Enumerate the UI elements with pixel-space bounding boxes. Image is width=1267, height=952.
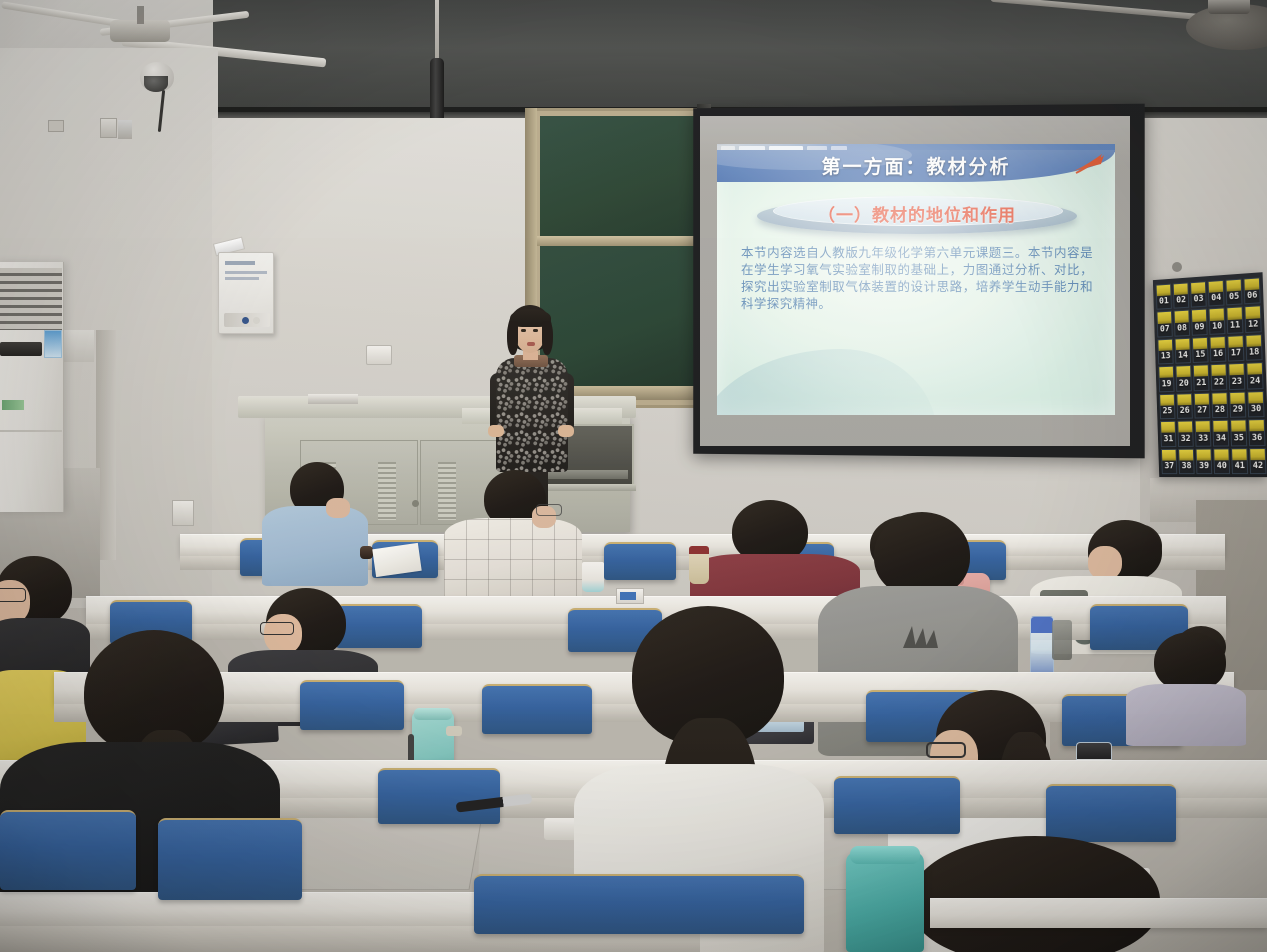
- lectern-lock-knob[interactable]: [412, 500, 419, 507]
- pocket-cell[interactable]: 22: [1210, 364, 1227, 391]
- pocket-row: 25 26 27 28 29 30: [1159, 391, 1264, 420]
- notebook-icon: [308, 394, 358, 404]
- pocket-cell[interactable]: 08: [1174, 310, 1190, 336]
- slide-body-text: 本节内容选自人教版九年级化学第六单元课题三。本节内容是在学生学习氧气实验室制取的…: [741, 244, 1093, 312]
- presenter-hand-left: [488, 425, 504, 437]
- ceiling-fixture-small: [48, 120, 64, 132]
- pocket-cell[interactable]: 33: [1195, 420, 1212, 446]
- student-torso: [444, 518, 582, 600]
- pocket-row: 07 08 09 10 11 12: [1157, 306, 1262, 338]
- pocket-cell[interactable]: 39: [1196, 448, 1213, 474]
- pocket-cell[interactable]: 17: [1227, 335, 1244, 362]
- phone-pocket-organizer[interactable]: 01 02 03 04 05 06 07 08 09 10 11 12 13 1…: [1153, 272, 1267, 477]
- ac-display-panel: [0, 342, 42, 356]
- pocket-cell[interactable]: 15: [1192, 337, 1209, 363]
- pocket-cell[interactable]: 42: [1249, 448, 1266, 474]
- microphone-icon: [428, 0, 450, 135]
- pocket-cell[interactable]: 06: [1243, 277, 1260, 304]
- pocket-cell[interactable]: 40: [1213, 448, 1230, 474]
- paper-cup-icon: [582, 562, 604, 592]
- control-box-icon[interactable]: [218, 252, 274, 334]
- seat-back[interactable]: [0, 810, 136, 890]
- ac-brand-logo: [2, 400, 24, 410]
- slide-swoosh-decoration: [1071, 152, 1105, 174]
- water-bottle-icon: [689, 546, 709, 584]
- student-lavender-tee: [1126, 626, 1246, 736]
- adidas-logo-icon: [900, 624, 940, 650]
- notebook-icon: [620, 592, 636, 600]
- wall-panel: [60, 330, 94, 362]
- pocket-row: 01 02 03 04 05 06: [1156, 277, 1261, 310]
- pocket-cell[interactable]: 36: [1248, 419, 1265, 446]
- chalkboard-upper-panel: [540, 116, 698, 236]
- pocket-cell[interactable]: 09: [1191, 309, 1208, 336]
- student-bottom-right: [910, 836, 1170, 952]
- seat-back[interactable]: [378, 768, 500, 824]
- wall-outlet-lower[interactable]: [172, 500, 194, 526]
- student-head: [1154, 632, 1226, 692]
- presenter-hand-right: [558, 425, 574, 437]
- student-head: [910, 836, 1160, 952]
- student-torso: [1126, 684, 1246, 746]
- water-bottle-icon: [846, 852, 924, 952]
- pocket-cell[interactable]: 28: [1211, 392, 1228, 418]
- pocket-cell[interactable]: 11: [1226, 307, 1243, 334]
- slide-body-paragraph: 本节内容选自人教版九年级化学第六单元课题三。本节内容是在学生学习氧气实验室制取的…: [741, 244, 1093, 312]
- pocket-cell[interactable]: 27: [1194, 392, 1211, 418]
- pocket-cell[interactable]: 14: [1175, 338, 1191, 364]
- pocket-cell[interactable]: 41: [1231, 448, 1248, 474]
- student-face-profile: [1088, 546, 1122, 580]
- bottle-cap-icon: [850, 846, 920, 864]
- student-ear-cheek: [326, 498, 350, 518]
- pocket-cell[interactable]: 02: [1173, 282, 1189, 309]
- student-white-check: [444, 470, 582, 590]
- desk-row-5-right: [930, 898, 1267, 928]
- eyeglasses-icon: [536, 504, 562, 516]
- classroom-photo: 第一方面：教材分析 （一）教材的地位和作用 本节内容选自人教版九年级化学第六单元…: [0, 0, 1267, 952]
- pocket-cell[interactable]: 10: [1209, 308, 1226, 335]
- pocket-cell[interactable]: 34: [1212, 420, 1229, 446]
- pocket-cell[interactable]: 05: [1225, 279, 1242, 306]
- pocket-cell[interactable]: 29: [1229, 391, 1246, 418]
- pocket-row: 37 38 39 40 41 42: [1161, 448, 1266, 474]
- pocket-cell[interactable]: 23: [1228, 363, 1245, 390]
- slide-title: 第一方面：教材分析: [717, 152, 1115, 179]
- eyeglasses-icon: [0, 588, 26, 602]
- presentation-slide: 第一方面：教材分析 （一）教材的地位和作用 本节内容选自人教版九年级化学第六单元…: [717, 144, 1115, 415]
- seat-back[interactable]: [834, 776, 960, 834]
- pocket-cell[interactable]: 19: [1158, 366, 1174, 392]
- pocket-cell[interactable]: 24: [1246, 362, 1263, 389]
- seat-back[interactable]: [1046, 784, 1176, 842]
- student-torso: [262, 506, 368, 586]
- seat-back[interactable]: [158, 818, 302, 900]
- ac-seam: [0, 430, 62, 432]
- pocket-cell[interactable]: 21: [1193, 365, 1210, 391]
- ac-energy-label: [44, 330, 62, 358]
- wall-outlet[interactable]: [366, 345, 392, 365]
- pocket-cell[interactable]: 12: [1244, 306, 1261, 333]
- pencil-case-icon: [1052, 620, 1072, 660]
- slide-subtitle-banner: （一）教材的地位和作用: [757, 194, 1077, 236]
- thermos-lid: [414, 708, 452, 720]
- pocket-cell[interactable]: 25: [1159, 393, 1175, 419]
- pen-icon: [446, 726, 462, 736]
- pocket-cell[interactable]: 16: [1210, 336, 1227, 363]
- pocket-row: 13 14 15 16 17 18: [1157, 334, 1262, 365]
- pocket-cell[interactable]: 31: [1160, 421, 1176, 447]
- pocket-cell[interactable]: 07: [1157, 311, 1173, 337]
- electrical-box: [100, 118, 117, 138]
- lectern-vent: [378, 462, 396, 520]
- eyeglasses-icon: [926, 742, 966, 758]
- pen-icon: [360, 546, 373, 559]
- pocket-cell[interactable]: 01: [1156, 284, 1172, 310]
- pocket-row: 19 20 21 22 23 24: [1158, 362, 1263, 392]
- ceiling-fan-right-icon: [990, 0, 1267, 52]
- pocket-cell[interactable]: 20: [1176, 365, 1192, 391]
- ac-vent-grille: [0, 268, 62, 330]
- seat-back[interactable]: [300, 680, 404, 730]
- pocket-cell[interactable]: 37: [1161, 448, 1177, 474]
- pocket-cell[interactable]: 35: [1230, 420, 1247, 446]
- slide-wave-decoration: [717, 349, 937, 415]
- pocket-cell[interactable]: 03: [1190, 281, 1207, 308]
- pocket-row: 31 32 33 34 35 36: [1160, 419, 1265, 447]
- student-blue-polo: [252, 462, 362, 580]
- pocket-cell[interactable]: 18: [1245, 334, 1262, 361]
- pocket-cell[interactable]: 26: [1176, 393, 1192, 419]
- pocket-cell[interactable]: 38: [1178, 448, 1194, 474]
- pocket-cell[interactable]: 32: [1177, 421, 1193, 447]
- seat-back[interactable]: [474, 874, 804, 934]
- pocket-cell[interactable]: 04: [1208, 280, 1225, 307]
- pocket-cell[interactable]: 30: [1247, 391, 1264, 418]
- pocket-cell[interactable]: 13: [1157, 339, 1173, 365]
- chalkboard-middle-rail: [536, 236, 702, 246]
- electrical-box-secondary: [118, 120, 132, 139]
- slide-subtitle: （一）教材的地位和作用: [757, 201, 1077, 226]
- pocket-chart-hook: [1172, 262, 1182, 272]
- seat-back[interactable]: [604, 542, 676, 580]
